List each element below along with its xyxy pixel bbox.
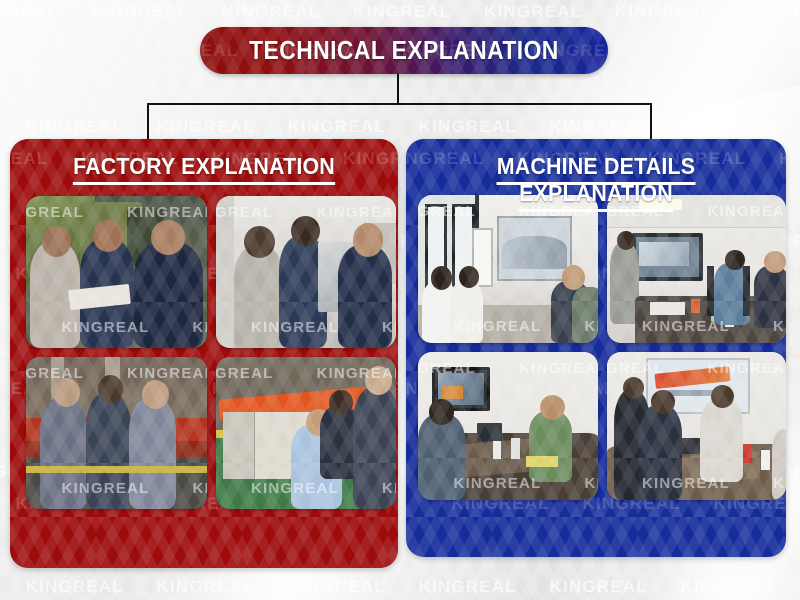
connector-vertical-main [397,74,399,105]
photo-lattice [26,196,207,348]
watermark-text: KINGREAL [779,149,786,169]
photo-factory-4[interactable]: KINGREALKINGREALKINGREALKINGREALKINGREAL… [216,357,397,509]
panel-heading-factory-text: FACTORY EXPLANATION [73,153,335,185]
photo-lattice [607,195,787,343]
technical-explanation-title-bar: KINGREALKINGREALKINGREALKINGREALKINGREAL… [200,27,608,74]
panel-heading-machine-details-text: MACHINE DETAILS EXPLANATION [497,153,695,212]
connector-vertical-left [147,103,149,141]
photo-grid-factory: KINGREALKINGREALKINGREALKINGREALKINGREAL… [26,196,396,509]
connector-vertical-right [650,103,652,141]
photo-factory-2[interactable]: KINGREALKINGREALKINGREALKINGREALKINGREAL… [216,196,397,348]
photo-machine-4[interactable]: KINGREALKINGREALKINGREALKINGREALKINGREAL… [607,352,787,500]
photo-factory-3[interactable]: KINGREALKINGREALKINGREALKINGREALKINGREAL… [26,357,207,509]
photo-lattice [26,357,207,509]
photo-lattice [418,352,598,500]
page-title: TECHNICAL EXPLANATION [249,35,559,66]
photo-lattice [418,195,598,343]
photo-grid-machine-details: KINGREALKINGREALKINGREALKINGREALKINGREAL… [418,195,786,500]
panel-machine-details-explanation[interactable]: KINGREALKINGREALKINGREALKINGREALKINGREAL… [406,139,786,557]
panel-heading-factory: FACTORY EXPLANATION [24,153,385,180]
connector-horizontal [147,103,652,105]
photo-lattice [216,357,397,509]
panel-factory-explanation[interactable]: KINGREALKINGREALKINGREALKINGREALKINGREAL… [10,139,398,568]
slide-canvas: KINGREALKINGREALKINGREALKINGREALKINGREAL… [0,0,800,600]
photo-lattice [216,196,397,348]
photo-machine-1[interactable]: KINGREALKINGREALKINGREALKINGREALKINGREAL… [418,195,598,343]
panel-heading-machine-details: MACHINE DETAILS EXPLANATION [419,153,772,207]
photo-lattice [607,352,787,500]
photo-factory-1[interactable]: KINGREALKINGREALKINGREALKINGREALKINGREAL… [26,196,207,348]
photo-machine-3[interactable]: KINGREALKINGREALKINGREALKINGREALKINGREAL… [418,352,598,500]
photo-machine-2[interactable]: KINGREALKINGREALKINGREALKINGREALKINGREAL… [607,195,787,343]
